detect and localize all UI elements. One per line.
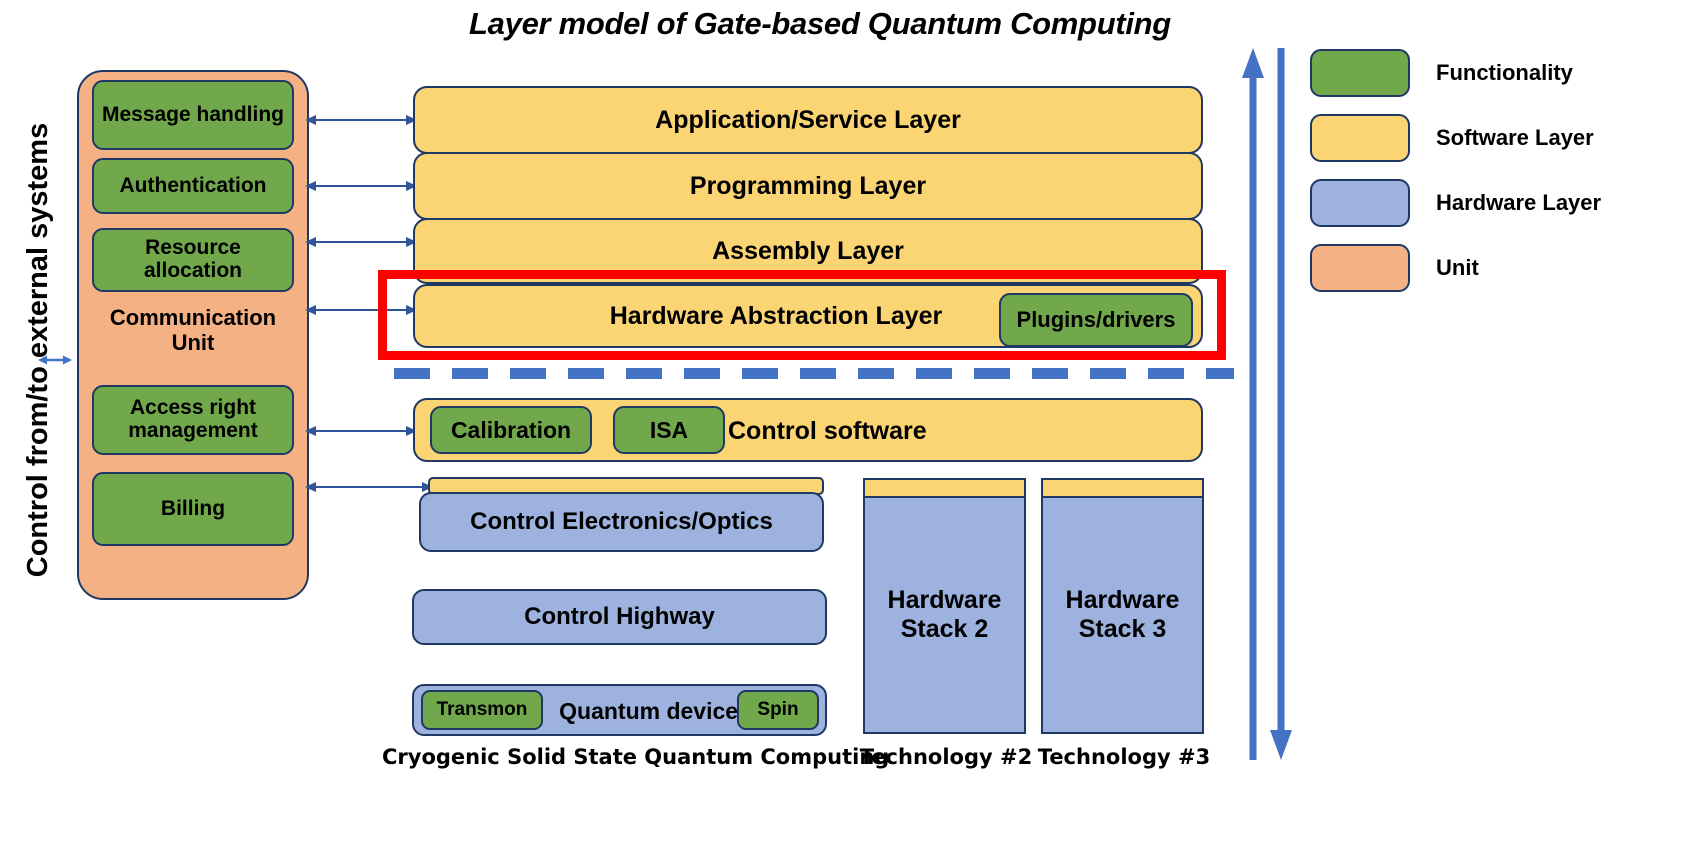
legend-label-software-layer: Software Layer <box>1436 125 1594 151</box>
legend-item-hardware-layer: Hardware Layer <box>1310 180 1700 226</box>
legend-label-functionality: Functionality <box>1436 60 1573 86</box>
layer-programming[interactable]: Programming Layer <box>413 152 1203 220</box>
abstraction-up-arrow-icon <box>1240 48 1266 760</box>
connector-arrow-hal <box>305 301 417 319</box>
legend-item-software-layer: Software Layer <box>1310 115 1700 161</box>
connector-arrow-control-software <box>305 422 417 440</box>
legend: Functionality Software Layer Hardware La… <box>1310 50 1700 280</box>
function-calibration[interactable]: Calibration <box>430 406 592 454</box>
quantum-devices-label: Quantum devices <box>540 697 770 725</box>
page-title: Layer model of Gate-based Quantum Comput… <box>380 2 1260 48</box>
plugins-drivers-badge[interactable]: Plugins/drivers <box>999 293 1193 347</box>
hardware-control-electronics[interactable]: Control Electronics/Optics <box>419 492 824 552</box>
function-authentication[interactable]: Authentication <box>92 158 294 214</box>
hardware-stack-2-cap <box>863 478 1026 498</box>
layer-hardware-abstraction[interactable]: Hardware Abstraction Layer Plugins/drive… <box>413 284 1203 348</box>
layer-application-service[interactable]: Application/Service Layer <box>413 86 1203 154</box>
layer-assembly[interactable]: Assembly Layer <box>413 218 1203 284</box>
external-control-label: Control from/to external systems <box>18 50 58 650</box>
diagram-canvas: Layer model of Gate-based Quantum Comput… <box>0 0 1707 850</box>
hardware-stack-3-cap <box>1041 478 1204 498</box>
caption-hardware-stack-1: Cryogenic Solid State Quantum Computing <box>382 742 852 772</box>
connector-arrow-control-electronics <box>305 478 433 496</box>
external-control-arrow-icon <box>38 352 72 368</box>
legend-swatch-software-layer <box>1310 114 1410 162</box>
device-transmon[interactable]: Transmon <box>421 690 543 730</box>
legend-label-hardware-layer: Hardware Layer <box>1436 190 1601 216</box>
connector-arrow-programming <box>305 177 417 195</box>
function-billing[interactable]: Billing <box>92 472 294 546</box>
function-access-right-management[interactable]: Access right management <box>92 385 294 455</box>
function-resource-allocation[interactable]: Resource allocation <box>92 228 294 292</box>
function-message-handling[interactable]: Message handling <box>92 80 294 150</box>
connector-arrow-application <box>305 111 417 129</box>
communication-unit-label: Communication Unit <box>92 300 294 362</box>
software-hardware-divider <box>394 368 1234 379</box>
device-spin[interactable]: Spin <box>737 690 819 730</box>
function-isa[interactable]: ISA <box>613 406 725 454</box>
legend-swatch-functionality <box>1310 49 1410 97</box>
connector-arrow-assembly <box>305 233 417 251</box>
abstraction-down-arrow-icon <box>1268 48 1294 760</box>
hardware-control-highway[interactable]: Control Highway <box>412 589 827 645</box>
legend-label-unit: Unit <box>1436 255 1479 281</box>
caption-hardware-stack-2: Technology #2 <box>851 742 1041 772</box>
legend-item-unit: Unit <box>1310 245 1700 291</box>
legend-swatch-hardware-layer <box>1310 179 1410 227</box>
legend-item-functionality: Functionality <box>1310 50 1700 96</box>
caption-hardware-stack-3: Technology #3 <box>1029 742 1219 772</box>
legend-swatch-unit <box>1310 244 1410 292</box>
hardware-stack-3[interactable]: Hardware Stack 3 <box>1041 496 1204 734</box>
control-software-label: Control software <box>728 416 1028 446</box>
hardware-stack-2[interactable]: Hardware Stack 2 <box>863 496 1026 734</box>
